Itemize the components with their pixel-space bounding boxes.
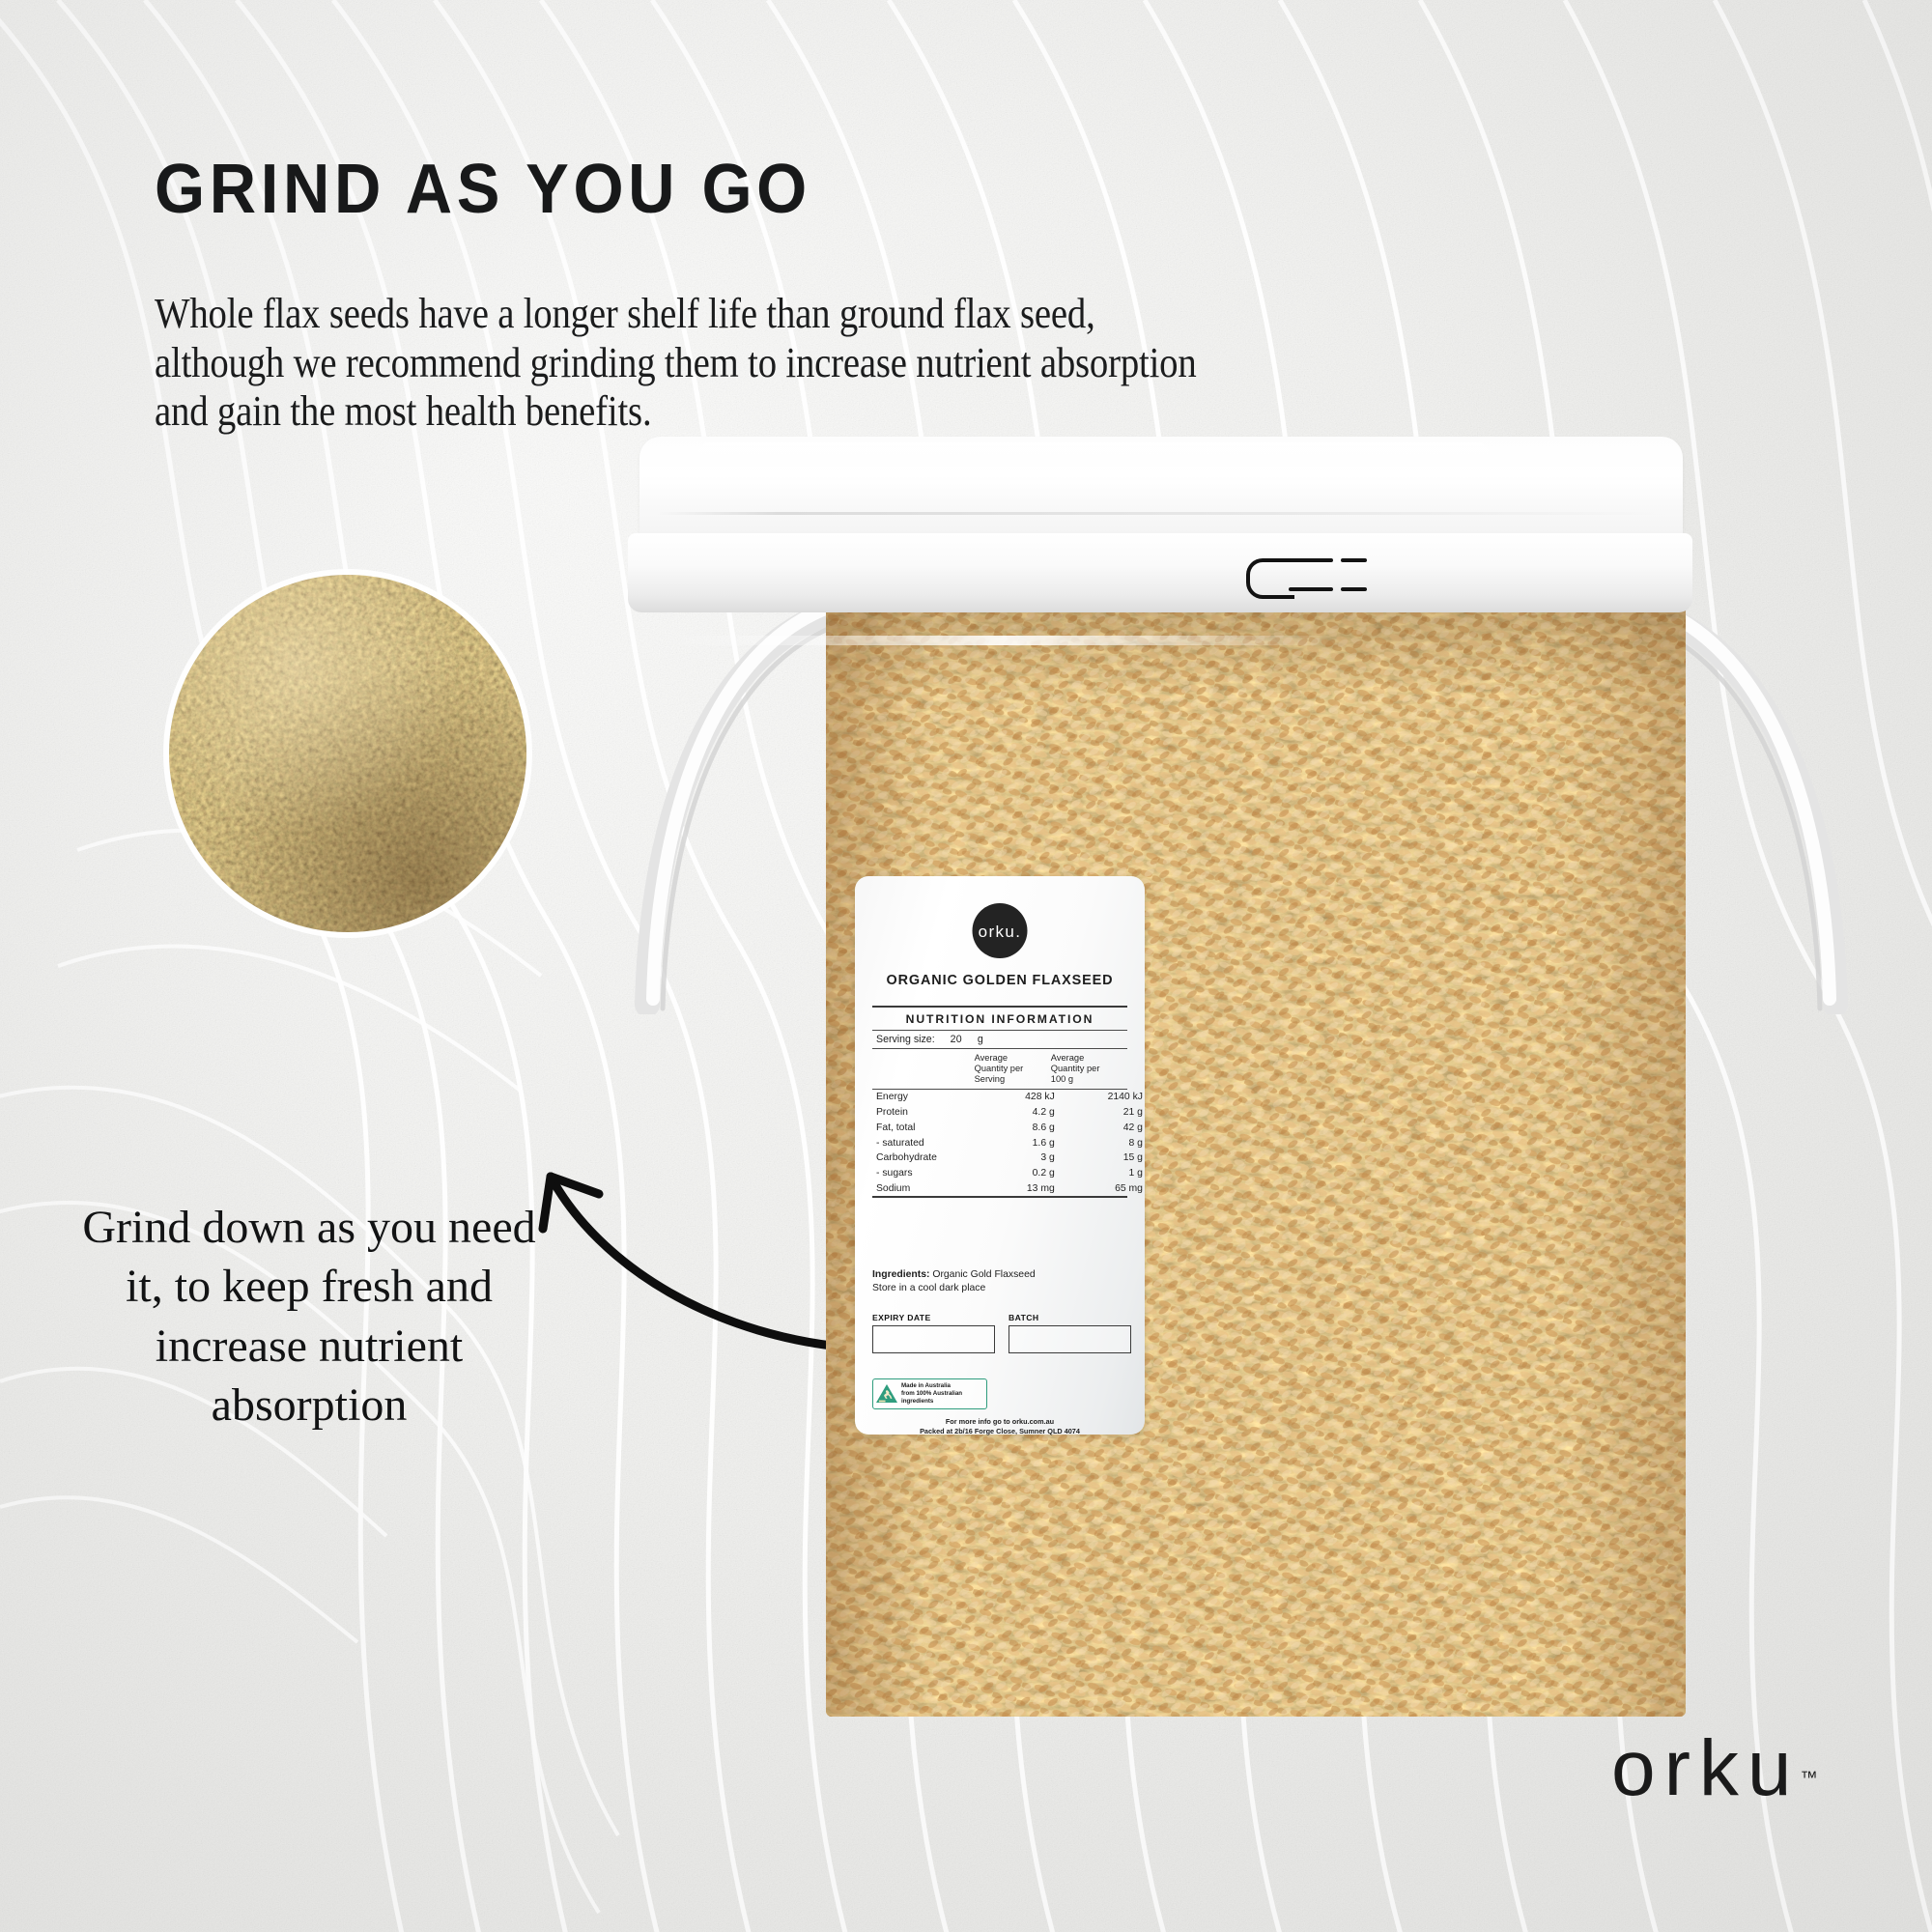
lid-highlight	[697, 442, 1490, 468]
nutrition-cell-per-serving: 13 mg	[979, 1183, 1066, 1194]
bucket-lid-rim	[628, 533, 1692, 612]
expiry-date-label: EXPIRY DATE	[872, 1313, 995, 1322]
product-title: ORGANIC GOLDEN FLAXSEED	[855, 973, 1145, 988]
hdr-line: Average	[975, 1053, 1051, 1064]
nutrition-row: - sugars0.2 g1 g	[872, 1166, 1127, 1181]
nutrition-cell-per-100g: 8 g	[1066, 1138, 1154, 1149]
nutrition-cell-name: Sodium	[872, 1183, 979, 1194]
nutrition-row: Protein4.2 g21 g	[872, 1105, 1127, 1121]
nutrition-col-blank	[872, 1053, 975, 1085]
latch-hook	[1246, 558, 1294, 599]
nutrition-row: Fat, total8.6 g42 g	[872, 1120, 1127, 1135]
nutrition-cell-per-serving: 4.2 g	[979, 1107, 1066, 1118]
nutrition-cell-per-serving: 1.6 g	[979, 1138, 1066, 1149]
brand-logo: orku™	[1611, 1729, 1818, 1808]
nutrition-cell-per-100g: 1 g	[1066, 1168, 1154, 1179]
footer-website: For more info go to orku.com.au	[855, 1417, 1145, 1427]
serving-size-row: Serving size: 20 g	[872, 1030, 1127, 1048]
nutrition-cell-per-serving: 428 kJ	[979, 1092, 1066, 1102]
nutrition-cell-name: - sugars	[872, 1168, 979, 1179]
nutrition-cell-per-serving: 0.2 g	[979, 1168, 1066, 1179]
nutrition-row: Energy428 kJ2140 kJ	[872, 1090, 1127, 1105]
nutrition-col-per-serving: Average Quantity per Serving	[975, 1053, 1051, 1085]
page-title: GRIND AS YOU GO	[155, 155, 1322, 224]
ingredients-value: Organic Gold Flaxseed	[932, 1269, 1035, 1280]
latch-dash	[1289, 587, 1333, 591]
nutrition-heading: NUTRITION INFORMATION	[872, 1008, 1127, 1030]
tamper-latch-icon	[1246, 554, 1367, 595]
latch-dash	[1341, 587, 1367, 591]
aus-line: from 100% Australian	[901, 1390, 962, 1398]
nutrition-rows: Energy428 kJ2140 kJProtein4.2 g21 gFat, …	[872, 1089, 1127, 1196]
expiry-date-field: EXPIRY DATE	[872, 1313, 995, 1353]
lid-rim-highlight	[667, 636, 1343, 645]
annotation-text: Grind down as you need it, to keep fresh…	[68, 1198, 551, 1435]
meal-shading	[169, 575, 526, 932]
trademark-symbol: ™	[1801, 1768, 1818, 1787]
hdr-line: Quantity per	[975, 1064, 1051, 1074]
nutrition-cell-name: Fat, total	[872, 1122, 979, 1133]
hdr-line: 100 g	[1051, 1074, 1127, 1085]
latch-dash	[1289, 558, 1333, 562]
product-bucket: orku. ORGANIC GOLDEN FLAXSEED NUTRITION …	[618, 437, 1700, 1721]
nutrition-cell-name: Carbohydrate	[872, 1152, 979, 1163]
nutrition-cell-per-100g: 2140 kJ	[1066, 1092, 1154, 1102]
nutrition-cell-per-100g: 65 mg	[1066, 1183, 1154, 1194]
label-fields: EXPIRY DATE BATCH	[872, 1313, 1131, 1353]
expiry-date-input[interactable]	[872, 1325, 995, 1353]
orku-logo-badge: orku.	[973, 903, 1028, 958]
ingredients-label: Ingredients:	[872, 1269, 929, 1280]
serving-size-label: Serving size:	[876, 1034, 935, 1045]
nutrition-cell-name: Energy	[872, 1092, 979, 1102]
hdr-line: Serving	[975, 1074, 1051, 1085]
marketing-image-canvas: GRIND AS YOU GO Whole flax seeds have a …	[0, 0, 1932, 1932]
serving-size-unit: g	[978, 1034, 983, 1045]
product-label: orku. ORGANIC GOLDEN FLAXSEED NUTRITION …	[855, 876, 1145, 1435]
aus-line: ingredients	[901, 1398, 962, 1406]
nutrition-cell-name: Protein	[872, 1107, 979, 1118]
nutrition-col-per-100g: Average Quantity per 100 g	[1051, 1053, 1127, 1085]
made-in-australia-badge: Made in Australia from 100% Australian i…	[872, 1378, 987, 1409]
nutrition-cell-per-100g: 21 g	[1066, 1107, 1154, 1118]
nutrition-row: Sodium13 mg65 mg	[872, 1181, 1127, 1197]
serving-size-value: 20	[951, 1034, 962, 1045]
nutrition-cell-name: - saturated	[872, 1138, 979, 1149]
nutrition-cell-per-100g: 42 g	[1066, 1122, 1154, 1133]
nutrition-cell-per-serving: 3 g	[979, 1152, 1066, 1163]
footer-address: Packed at 2b/16 Forge Close, Sumner QLD …	[855, 1427, 1145, 1436]
label-footer: For more info go to orku.com.au Packed a…	[855, 1417, 1145, 1436]
nutrition-row: - saturated1.6 g8 g	[872, 1135, 1127, 1151]
nutrition-information-panel: NUTRITION INFORMATION Serving size: 20 g…	[872, 1006, 1127, 1198]
hdr-line: Average	[1051, 1053, 1127, 1064]
hdr-line: Quantity per	[1051, 1064, 1127, 1074]
latch-dash	[1341, 558, 1367, 562]
lid-seam	[657, 512, 1667, 515]
kangaroo-triangle-icon	[875, 1382, 898, 1406]
bucket-handle-left	[618, 599, 850, 1014]
brand-name: orku	[1611, 1724, 1801, 1812]
aus-mark-text: Made in Australia from 100% Australian i…	[898, 1382, 962, 1406]
nutrition-cell-per-100g: 15 g	[1066, 1152, 1154, 1163]
batch-input[interactable]	[1009, 1325, 1131, 1353]
ground-flaxseed-photo	[169, 575, 526, 932]
orku-logo-text: orku.	[979, 923, 1022, 942]
nutrition-cell-per-serving: 8.6 g	[979, 1122, 1066, 1133]
page-subcopy: Whole flax seeds have a longer shelf lif…	[155, 290, 1217, 437]
batch-label: BATCH	[1009, 1313, 1131, 1322]
storage-instruction: Store in a cool dark place	[872, 1282, 1131, 1295]
aus-line: Made in Australia	[901, 1382, 962, 1390]
nutrition-column-headers: Average Quantity per Serving Average Qua…	[872, 1048, 1127, 1089]
batch-field: BATCH	[1009, 1313, 1131, 1353]
nutrition-row: Carbohydrate3 g15 g	[872, 1151, 1127, 1166]
ingredients-block: Ingredients: Organic Gold Flaxseed Store…	[872, 1268, 1131, 1294]
